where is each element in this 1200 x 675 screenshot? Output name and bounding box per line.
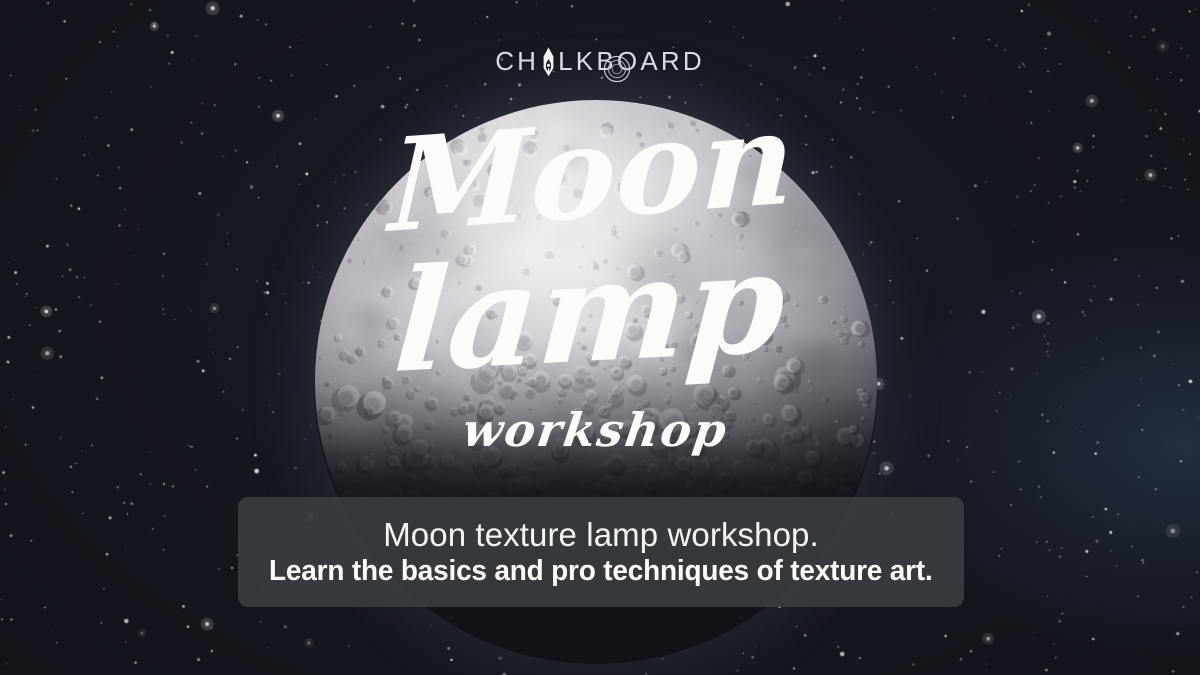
headline-line-lamp: lamp bbox=[0, 236, 1200, 406]
brand-logo-text-before: CH bbox=[495, 48, 539, 74]
pen-nib-icon bbox=[541, 47, 556, 77]
headline-lamp-glyphs: lamp bbox=[390, 219, 791, 405]
headline-line-workshop: workshop bbox=[0, 398, 1200, 468]
headline-line-moon: Moon bbox=[0, 104, 1200, 254]
brand-logo[interactable]: CH LKB OARD bbox=[0, 44, 1200, 78]
caption-panel: Moon texture lamp workshop. Learn the ba… bbox=[238, 497, 964, 607]
headline-workshop-glyphs: workshop bbox=[459, 403, 731, 457]
headline-moon-glyphs: Moon bbox=[383, 82, 797, 262]
poster-canvas: CH LKB OARD Moon lamp bbox=[0, 0, 1200, 675]
caption-subtitle: Learn the basics and pro techniques of t… bbox=[269, 555, 933, 588]
caption-title: Moon texture lamp workshop. bbox=[383, 516, 819, 554]
